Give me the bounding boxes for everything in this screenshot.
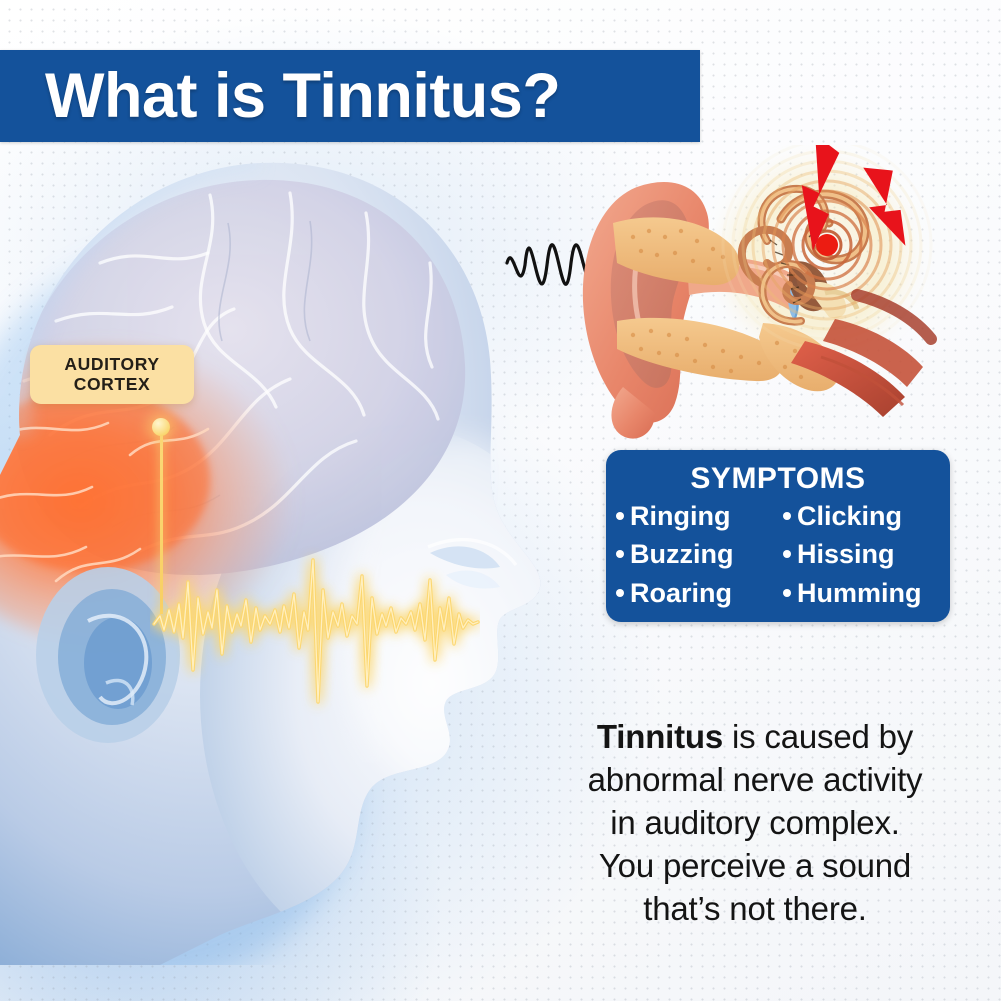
caption-line-1: Tinnitus is caused by [520, 716, 990, 759]
tinnitus-waveform-icon [150, 520, 480, 720]
symptom-label: Hissing [797, 535, 895, 573]
symptom-item: Ringing [616, 497, 783, 535]
title-banner: What is Tinnitus? [0, 50, 700, 142]
symptom-item: Clicking [783, 497, 950, 535]
symptom-label: Clicking [797, 497, 902, 535]
tinnitus-infographic: AUDITORY CORTEX [0, 0, 1001, 1001]
symptom-item: Buzzing [616, 535, 783, 573]
bullet-icon [616, 512, 624, 520]
caption-line-2: abnormal nerve activity [520, 759, 990, 802]
caption-line-3: in auditory complex. [520, 802, 990, 845]
caption-line-4: You perceive a sound [520, 845, 990, 888]
bullet-icon [616, 589, 624, 597]
caption-line-5: that’s not there. [520, 888, 990, 931]
bullet-icon [616, 550, 624, 558]
symptom-item: Humming [783, 574, 950, 612]
auditory-cortex-callout: AUDITORY CORTEX [30, 345, 194, 404]
symptoms-column-right: Clicking Hissing Humming [783, 497, 950, 612]
symptom-item: Hissing [783, 535, 950, 573]
symptom-label: Buzzing [630, 535, 733, 573]
symptoms-heading: SYMPTOMS [606, 462, 950, 495]
bullet-icon [783, 550, 791, 558]
bullet-icon [783, 512, 791, 520]
symptom-item: Roaring [616, 574, 783, 612]
ear-anatomy-illustration [505, 145, 985, 445]
symptom-label: Humming [797, 574, 922, 612]
bullet-icon [783, 589, 791, 597]
red-alert-dot-icon [816, 234, 838, 256]
caption-text: Tinnitus is caused by abnormal nerve act… [520, 716, 990, 930]
callout-line-2: CORTEX [38, 374, 186, 394]
caption-lead-word: Tinnitus [597, 718, 723, 755]
symptoms-card: SYMPTOMS Ringing Buzzing Roaring [606, 450, 950, 622]
symptoms-column-left: Ringing Buzzing Roaring [616, 497, 783, 612]
page-title: What is Tinnitus? [45, 65, 560, 128]
symptoms-columns: Ringing Buzzing Roaring Clicking [606, 497, 950, 612]
symptom-label: Roaring [630, 574, 732, 612]
symptom-label: Ringing [630, 497, 730, 535]
caption-line-1-rest: is caused by [723, 718, 913, 755]
pin-dot-icon [152, 418, 170, 436]
callout-line-1: AUDITORY [38, 354, 186, 374]
